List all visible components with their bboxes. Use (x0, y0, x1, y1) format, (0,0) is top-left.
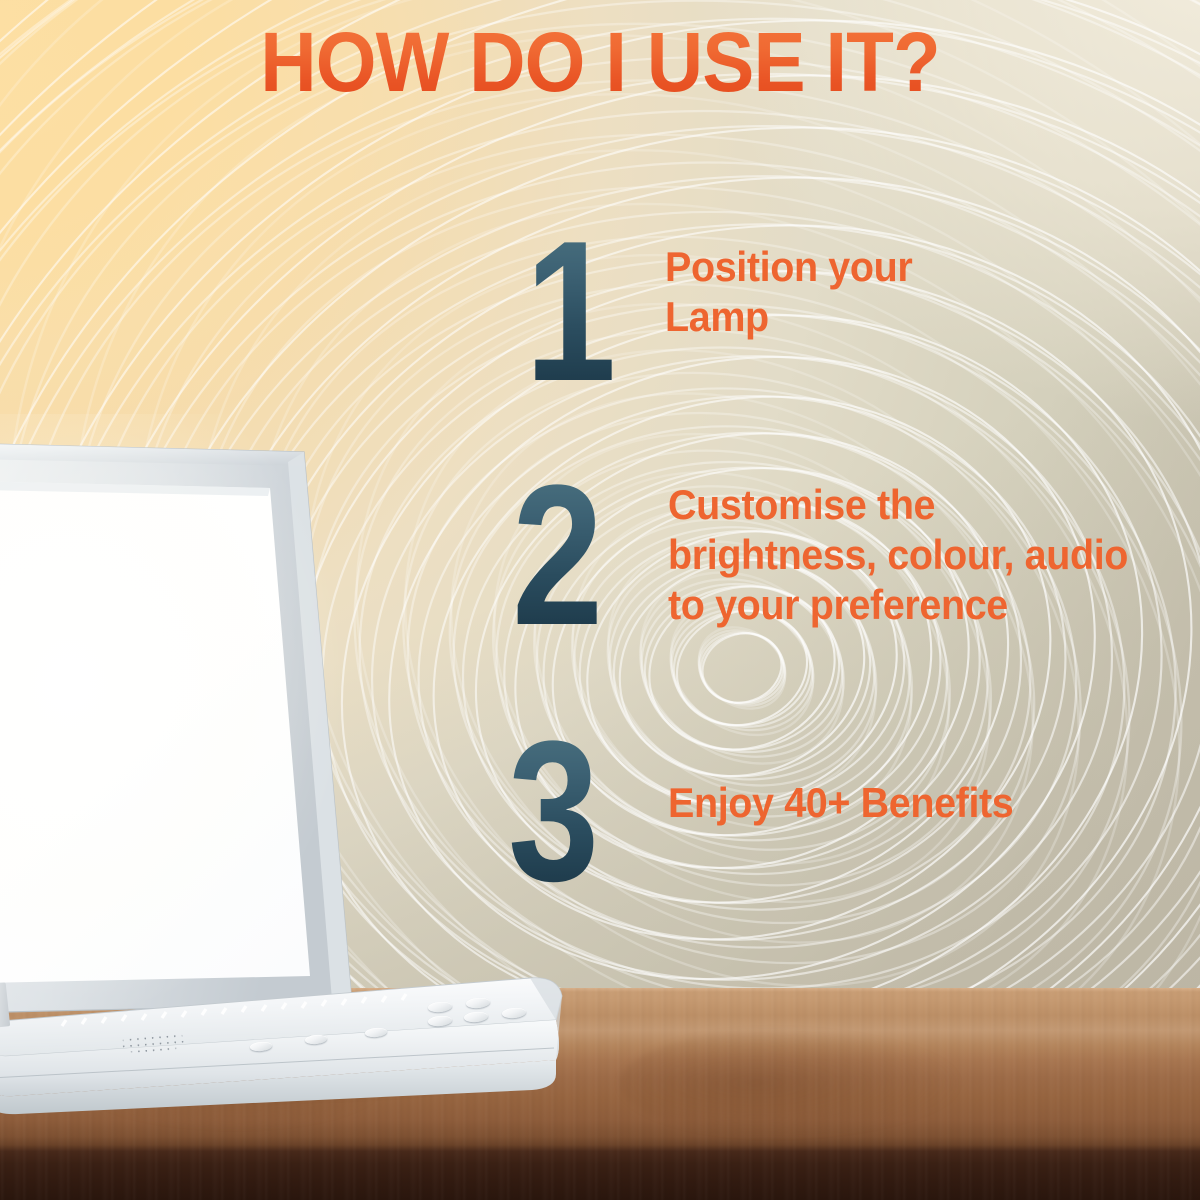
lamp-base-unit (0, 962, 590, 1122)
step-text-1: Position your Lamp (665, 242, 912, 342)
step-item-2: 2 Customise the brightness, colour, audi… (512, 472, 1157, 640)
step-text-3: Enjoy 40+ Benefits (668, 778, 1013, 828)
poster-canvas: HOW DO I USE IT? 1 Position your Lamp 2 … (0, 0, 1200, 1200)
step-item-1: 1 Position your Lamp (525, 228, 928, 396)
step-number-1: 1 (525, 228, 632, 396)
step-text-2: Customise the brightness, colour, audio … (668, 480, 1128, 630)
lamp-screen-assembly (0, 404, 352, 1044)
